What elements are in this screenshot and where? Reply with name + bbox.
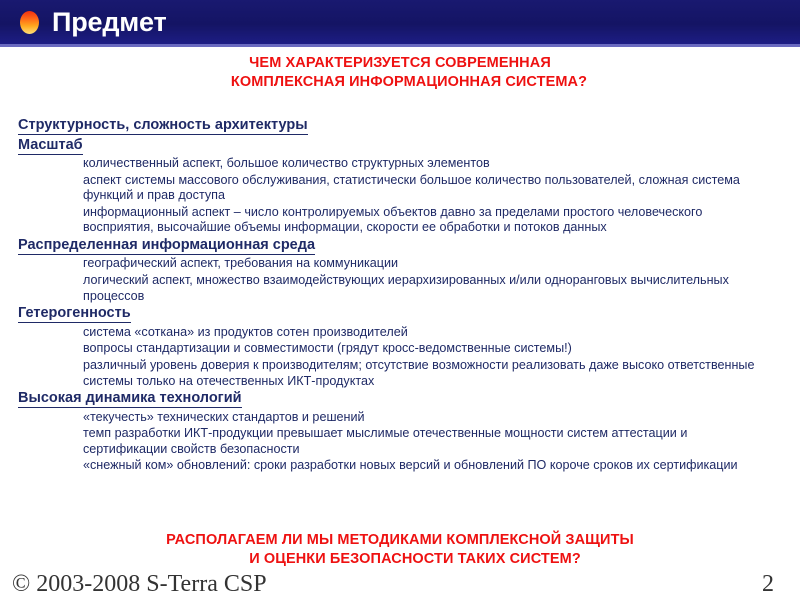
slide-footer: © 2003-2008 S-Terra CSP 2 [0,570,800,600]
outline-heading-text: Распределенная информационная среда [18,237,315,255]
outline-item: географический аспект, требования на ком… [83,256,763,272]
footer-page-number: 2 [762,570,774,598]
slide-heading: ЧЕМ ХАРАКТЕРИЗУЕТСЯ СОВРЕМЕННАЯ КОМПЛЕКС… [0,54,800,92]
outline-item: «текучесть» технических стандартов и реш… [83,410,763,426]
outline-item: «снежный ком» обновлений: сроки разработ… [83,458,763,474]
outline-item: темп разработки ИКТ-продукции превышает … [83,426,763,457]
slide-title-bar: Предмет [0,0,800,44]
outline-item: информационный аспект – число контролиру… [83,205,763,236]
outline-heading-text: Высокая динамика технологий [18,390,242,408]
heading-line-1: ЧЕМ ХАРАКТЕРИЗУЕТСЯ СОВРЕМЕННАЯ [0,54,800,73]
outline-heading: Высокая динамика технологий [18,389,800,409]
outline-item: количественный аспект, большое количеств… [83,156,763,172]
outline-heading-text: Гетерогенность [18,305,131,323]
outline-item: система «соткана» из продуктов сотен про… [83,325,763,341]
presentation-slide: Предмет ЧЕМ ХАРАКТЕРИЗУЕТСЯ СОВРЕМЕННАЯ … [0,0,800,600]
gradient-bullet-icon [20,11,39,34]
slide-closing-question: РАСПОЛАГАЕМ ЛИ МЫ МЕТОДИКАМИ КОМПЛЕКСНОЙ… [0,531,800,569]
closing-line-2: И ОЦЕНКИ БЕЗОПАСНОСТИ ТАКИХ СИСТЕМ? [30,550,800,569]
slide-body: Структурность, сложность архитектуры Мас… [0,116,800,474]
outline-heading: Масштаб [18,136,800,156]
outline-heading: Гетерогенность [18,304,800,324]
outline-heading: Структурность, сложность архитектуры [18,116,800,136]
outline-item: различный уровень доверия к производител… [83,358,763,389]
outline-heading: Распределенная информационная среда [18,236,800,256]
outline-item: логический аспект, множество взаимодейст… [83,273,763,304]
footer-copyright: © 2003-2008 S-Terra CSP [12,570,267,598]
outline-item: аспект системы массового обслуживания, с… [83,173,763,204]
title-bar-underline [0,44,800,47]
closing-line-1: РАСПОЛАГАЕМ ЛИ МЫ МЕТОДИКАМИ КОМПЛЕКСНОЙ… [0,531,800,550]
outline-heading-text: Структурность, сложность архитектуры [18,117,308,135]
slide-title: Предмет [52,9,167,36]
heading-line-2: КОМПЛЕКСНАЯ ИНФОРМАЦИОННАЯ СИСТЕМА? [18,73,800,92]
outline-item: вопросы стандартизации и совместимости (… [83,341,763,357]
outline-heading-text: Масштаб [18,137,83,155]
